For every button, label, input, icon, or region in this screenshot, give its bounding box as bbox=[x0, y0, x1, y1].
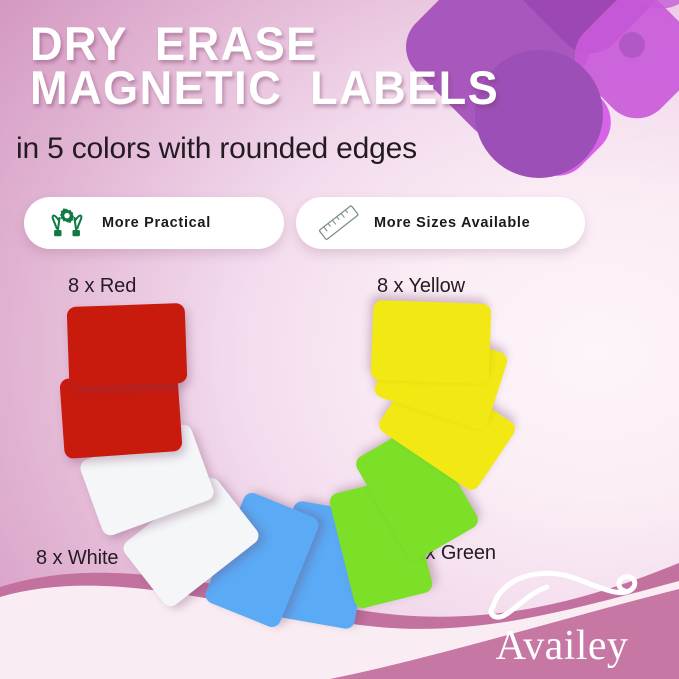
magenta-diamond-right bbox=[561, 0, 679, 132]
headline-line-1: DRY ERASE bbox=[30, 22, 481, 66]
purple-diamond-corner bbox=[613, 0, 679, 22]
product-marketing-image: DRY ERASE MAGNETIC LABELS in 5 colors wi… bbox=[0, 0, 679, 679]
swoosh-flourish-icon bbox=[467, 563, 657, 627]
label-card-fan bbox=[0, 290, 679, 590]
hands-holding-gear-icon bbox=[44, 203, 90, 243]
purple-diamond-upper bbox=[504, 0, 677, 67]
feature-badge-practical-label: More Practical bbox=[102, 215, 211, 231]
headline-block: DRY ERASE MAGNETIC LABELS bbox=[30, 22, 500, 109]
feature-badge-sizes-label: More Sizes Available bbox=[374, 215, 530, 231]
magenta-diamond-lower bbox=[489, 54, 625, 190]
count-label-red: 8 x Red bbox=[68, 275, 136, 298]
feature-badge-practical: More Practical bbox=[24, 197, 284, 249]
brand-logo: Availey bbox=[467, 569, 657, 665]
count-label-yellow: 8 x Yellow bbox=[377, 275, 465, 298]
ruler-icon bbox=[316, 203, 362, 243]
yellow-card-top bbox=[371, 300, 492, 384]
small-purple-circle bbox=[619, 32, 645, 58]
count-label-white: 8 x White bbox=[36, 547, 118, 570]
red-card-top bbox=[67, 303, 188, 387]
feature-badge-sizes: More Sizes Available bbox=[296, 197, 585, 249]
headline-line-2: MAGNETIC LABELS bbox=[30, 66, 481, 110]
subheadline: in 5 colors with rounded edges bbox=[16, 132, 417, 166]
brand-name: Availey bbox=[467, 625, 657, 667]
